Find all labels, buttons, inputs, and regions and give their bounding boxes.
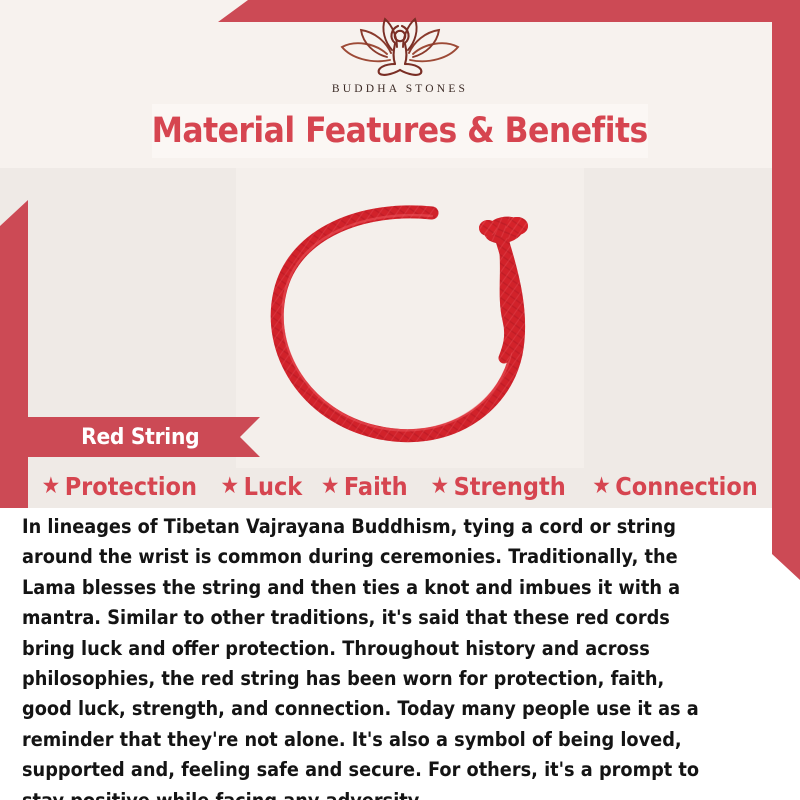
benefit-label: Faith xyxy=(344,472,408,501)
benefit-item-connection: ★ Connection xyxy=(588,472,763,501)
benefit-label: Luck xyxy=(243,472,302,501)
benefit-item-protection: ★ Protection xyxy=(37,472,201,501)
benefit-label: Connection xyxy=(615,472,758,501)
benefit-label: Protection xyxy=(65,472,197,501)
infographic-page: BUDDHA STONES Material Features & Benefi… xyxy=(0,0,800,800)
star-icon: ★ xyxy=(321,475,340,498)
section-ribbon: Red String xyxy=(18,417,260,457)
brand-logo: BUDDHA STONES xyxy=(0,14,800,95)
star-icon: ★ xyxy=(430,475,449,498)
decorative-bar-left xyxy=(0,200,28,508)
benefits-list: ★ Protection ★ Luck ★ Faith ★ Strength ★… xyxy=(0,466,800,506)
benefit-item-faith: ★ Faith xyxy=(317,472,413,501)
star-icon: ★ xyxy=(220,475,239,498)
star-icon: ★ xyxy=(42,475,61,498)
benefit-item-strength: ★ Strength xyxy=(426,472,570,501)
brand-name: BUDDHA STONES xyxy=(332,83,468,95)
description-paragraph: In lineages of Tibetan Vajrayana Buddhis… xyxy=(22,512,710,800)
page-title: Material Features & Benefits xyxy=(152,111,648,151)
lotus-meditation-icon xyxy=(335,14,465,80)
page-title-band: Material Features & Benefits xyxy=(152,104,648,158)
benefit-label: Strength xyxy=(453,472,565,501)
benefit-item-luck: ★ Luck xyxy=(216,472,307,501)
product-photo xyxy=(236,168,584,468)
section-ribbon-label: Red String xyxy=(81,425,199,450)
star-icon: ★ xyxy=(592,475,611,498)
